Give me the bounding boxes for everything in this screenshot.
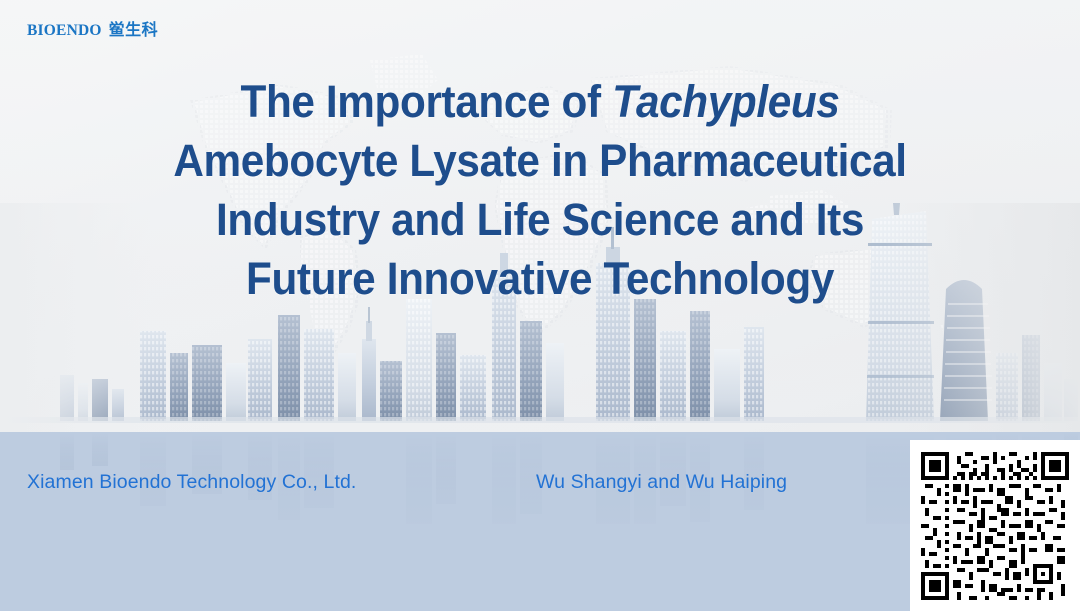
author-names: Wu Shangyi and Wu Haiping	[536, 471, 787, 494]
logo-text-chinese: 鲎生科	[109, 16, 159, 40]
bioendo-logo: BIOENDO 鲎生科	[27, 16, 158, 40]
title-line-1: The Importance of Tachypleus	[32, 72, 1047, 131]
title-line-3: Industry and Life Science and Its	[32, 190, 1047, 249]
presentation-slide: BIOENDO 鲎生科	[0, 0, 1080, 611]
title-line-2: Amebocyte Lysate in Pharmaceutical	[32, 131, 1047, 190]
logo-text-english: BIOENDO	[27, 22, 102, 40]
title-italic-term: Tachypleus	[612, 76, 839, 127]
organization-name: Xiamen Bioendo Technology Co., Ltd.	[27, 471, 356, 494]
qr-code[interactable]	[910, 440, 1080, 611]
page-title: The Importance of Tachypleus Amebocyte L…	[32, 72, 1047, 308]
title-line-4: Future Innovative Technology	[32, 249, 1047, 308]
